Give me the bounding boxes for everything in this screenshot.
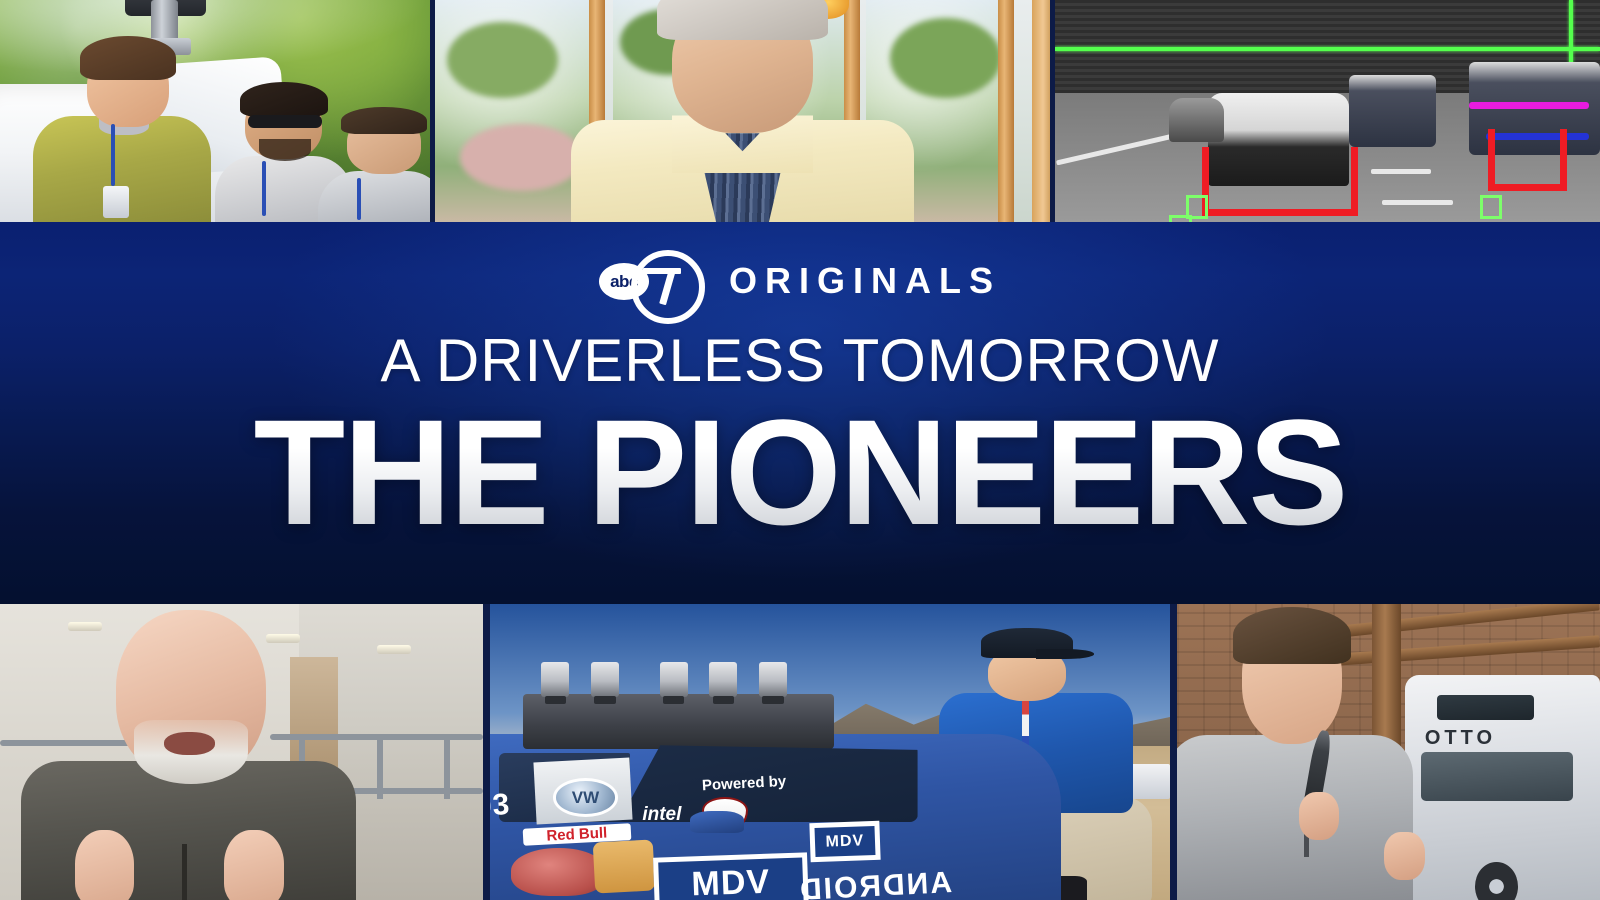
otto-brand-wordmark: OTTO [1425, 727, 1496, 750]
marker-box [1169, 215, 1191, 222]
sensor-rack [523, 694, 834, 749]
photo-darpa-grand-challenge-winner: 03 intel Powered by Red Bull MDV MDV [490, 604, 1170, 900]
vehicle-bounding-box [1202, 147, 1358, 216]
photo-self-driving-truck-founder: OTTO [1177, 604, 1600, 900]
ceiling-light [377, 645, 411, 654]
sunglasses [248, 115, 322, 129]
photo-divider [483, 604, 490, 900]
title-banner: abc ORIGINALS A DRIVERLESS TOMORROW THE … [0, 222, 1600, 604]
marker-box [1480, 195, 1502, 219]
sleeper-window [1437, 695, 1534, 720]
truck-wheel [1475, 862, 1518, 900]
baseball-cap [981, 628, 1073, 658]
horizon-detection-line [1055, 47, 1600, 51]
originals-label: ORIGINALS [729, 260, 1001, 302]
quarter-zip-pullover [1177, 735, 1413, 900]
right-hand [224, 830, 284, 900]
photo-engineers-with-self-driving-car [0, 0, 430, 222]
cab-window [1421, 752, 1573, 801]
redbull-bull-icon [511, 848, 607, 896]
gesturing-hand [1384, 832, 1424, 880]
vw-logo-icon [553, 778, 619, 817]
network-logo: abc ORIGINALS [599, 250, 1001, 312]
hair [1233, 607, 1351, 664]
mic-hand [1299, 792, 1339, 840]
seven-diagonal-stroke [659, 269, 676, 306]
lidar-unit [709, 662, 737, 697]
program-title: THE PIONEERS [254, 397, 1347, 547]
poster: abc ORIGINALS A DRIVERLESS TOMORROW THE … [0, 0, 1600, 900]
sponsor-panel [593, 839, 655, 893]
background-truck [1349, 75, 1436, 146]
photo-early-vision-system-detection [1055, 0, 1600, 222]
left-hand [75, 830, 135, 900]
mouth [164, 732, 215, 755]
race-number: 03 [490, 788, 511, 824]
lidar-unit [541, 662, 569, 697]
android-decal: ANDROID [797, 866, 953, 900]
lidar-unit [759, 662, 787, 697]
photo-divider [1170, 604, 1177, 900]
vehicle-bounding-box [1488, 129, 1567, 192]
top-photo-row [0, 0, 1600, 222]
vertical-detection-line [1569, 0, 1573, 71]
intel-decal: intel [642, 804, 681, 826]
autonomous-semi-truck: OTTO [1405, 675, 1600, 900]
window-frame [998, 0, 1014, 222]
side-mirror [690, 811, 744, 833]
interview-subject [595, 0, 890, 222]
railing-post [377, 734, 383, 799]
interview-subject [39, 610, 338, 900]
lane-marking [1382, 200, 1453, 205]
channel-seven-ring-icon [631, 250, 705, 324]
lidar-unit [591, 662, 619, 697]
mdv-decal-small: MDV [809, 821, 880, 863]
autonomous-rally-car: 03 intel Powered by Red Bull MDV MDV [490, 734, 1061, 900]
background-car [1169, 98, 1224, 142]
photo-robotics-researcher-interview [0, 604, 483, 900]
hair [657, 0, 828, 40]
program-subtitle: A DRIVERLESS TOMORROW [381, 326, 1220, 395]
photo-elderly-pioneer-interview [435, 0, 1050, 222]
railing-post [444, 734, 450, 799]
mdv-decal: MDV [653, 853, 809, 900]
abc7-logo-icon: abc [599, 250, 717, 312]
door-frame [1032, 0, 1050, 222]
zipper [182, 844, 187, 900]
lidar-unit [660, 662, 688, 697]
engineer-one [22, 40, 216, 222]
speaker [1185, 616, 1422, 900]
engineer-three [318, 107, 430, 222]
bottom-photo-row: 03 intel Powered by Red Bull MDV MDV [0, 604, 1600, 900]
magenta-detection-marker [1469, 102, 1589, 109]
lane-marking [1371, 169, 1431, 174]
